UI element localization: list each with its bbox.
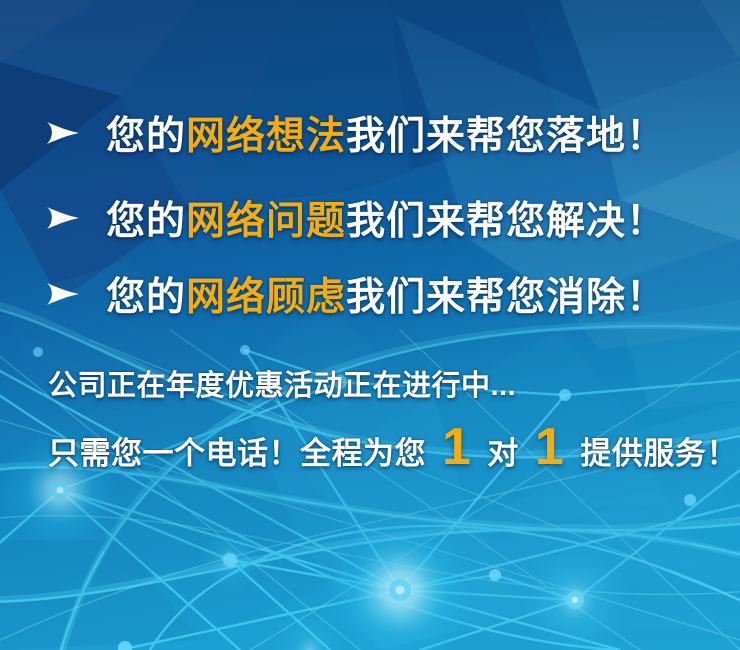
arrowhead-right-icon bbox=[46, 120, 80, 146]
banner-content: 您的网络想法我们来帮您落地！ 您的网络问题我们来帮您解决！ 您的网络顾虑我们来帮… bbox=[0, 0, 740, 650]
arrowhead-right-icon bbox=[46, 281, 80, 307]
headline-row-2: 您的网络问题我们来帮您解决！ bbox=[46, 190, 666, 246]
headline-prefix-1: 您的 bbox=[106, 115, 186, 158]
headline-text-2: 您的网络问题我们来帮您解决！ bbox=[106, 190, 666, 246]
headline-text-3: 您的网络顾虑我们来帮您消除！ bbox=[106, 266, 666, 322]
service-text-part2: 提供服务！ bbox=[580, 428, 738, 473]
promotional-banner: 您的网络想法我们来帮您落地！ 您的网络问题我们来帮您解决！ 您的网络顾虑我们来帮… bbox=[0, 0, 740, 650]
headline-highlight-2: 网络问题 bbox=[186, 200, 346, 243]
service-number-first: 1 bbox=[438, 424, 475, 471]
arrowhead-right-icon bbox=[46, 205, 80, 231]
service-text-mid: 对 bbox=[487, 428, 519, 473]
service-text-part1: 只需您一个电话！全程为您 bbox=[48, 428, 426, 473]
service-text: 只需您一个电话！全程为您 1 对 1 提供服务！ bbox=[48, 424, 738, 473]
headline-text-1: 您的网络想法我们来帮您落地！ bbox=[106, 105, 666, 161]
headline-suffix-3: 我们来帮您消除！ bbox=[346, 276, 666, 319]
headline-row-1: 您的网络想法我们来帮您落地！ bbox=[46, 105, 666, 161]
headline-highlight-1: 网络想法 bbox=[186, 115, 346, 158]
headline-prefix-3: 您的 bbox=[106, 276, 186, 319]
headline-highlight-3: 网络顾虑 bbox=[186, 276, 346, 319]
headline-row-3: 您的网络顾虑我们来帮您消除！ bbox=[46, 266, 666, 322]
service-number-second: 1 bbox=[531, 424, 568, 471]
headline-suffix-2: 我们来帮您解决！ bbox=[346, 200, 666, 243]
promo-text: 公司正在年度优惠活动正在进行中... bbox=[48, 362, 516, 404]
headline-prefix-2: 您的 bbox=[106, 200, 186, 243]
headline-suffix-1: 我们来帮您落地！ bbox=[346, 115, 666, 158]
